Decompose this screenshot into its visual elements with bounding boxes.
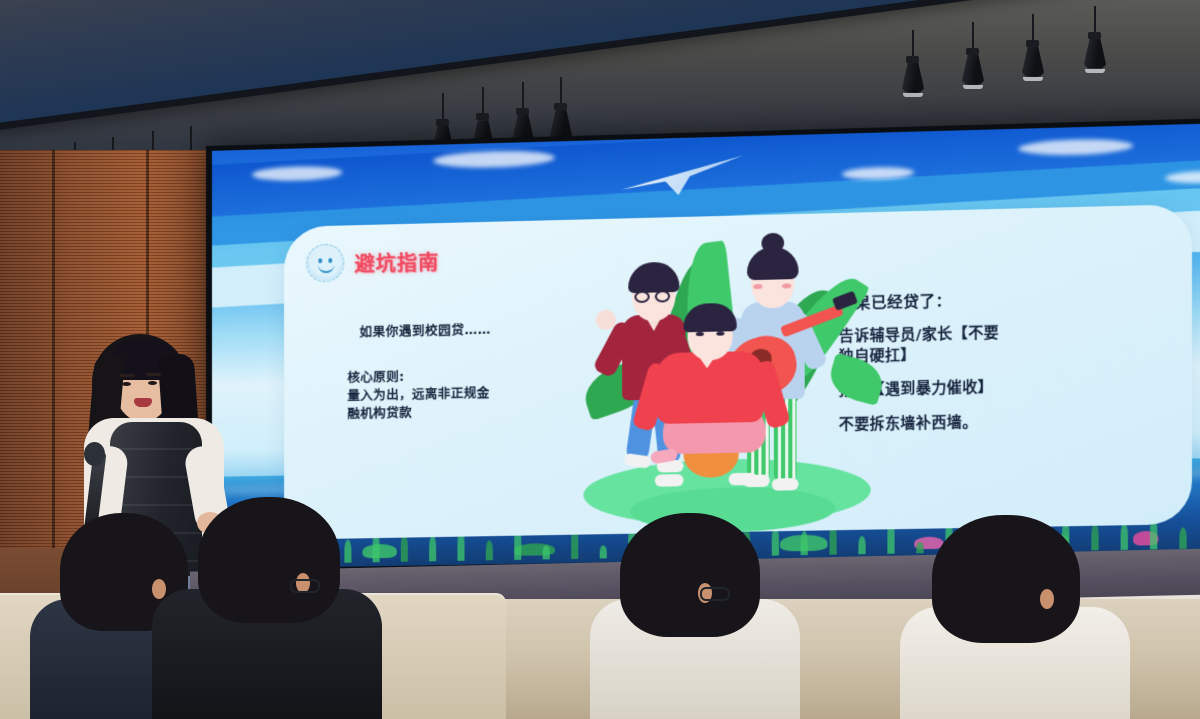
led-screen: 避坑指南 如果你遇到校园贷…… 核心原则: 量入为出，远离非正规金 融机构贷款 … [212,123,1200,569]
led-screen-frame: 避坑指南 如果你遇到校园贷…… 核心原则: 量入为出，远离非正规金 融机构贷款 … [206,118,1200,576]
slide-right-column: 如果已经贷了： 告诉辅导员/家长【不要 独自硬扛】 报警【遇到暴力催收】 不要拆… [839,285,1151,436]
smiley-face-icon [306,244,344,283]
slide-card: 避坑指南 如果你遇到校园贷…… 核心原则: 量入为出，远离非正规金 融机构贷款 … [284,204,1192,540]
spotlight-icon [960,22,986,89]
glasses-icon [700,587,730,601]
seaweed [1179,527,1186,549]
wall-seam [52,150,55,570]
glasses-icon [290,579,320,593]
spotlight-icon [1020,14,1046,81]
seaweed [916,542,923,553]
seaweed [486,540,493,560]
seaweed [858,536,865,554]
slide-badge: 避坑指南 [306,241,439,282]
seaweed [600,545,607,558]
slide-left-column: 如果你遇到校园贷…… 核心原则: 量入为出，远离非正规金 融机构贷款 [347,317,565,423]
seaweed [543,545,550,559]
seaweed [401,534,408,562]
spotlight-icon [548,77,574,144]
right-line: 不要拆东墙补西墙。 [839,410,1151,436]
lecture-hall-photo: 避坑指南 如果你遇到校园贷…… 核心原则: 量入为出，远离非正规金 融机构贷款 … [0,0,1200,719]
coral [363,544,397,559]
seaweed [344,540,351,563]
principle-line: 融机构贷款 [347,400,565,422]
right-line: 告诉辅导员/家长【不要 独自硬扛】 [839,321,1151,368]
slide-principle-block: 核心原则: 量入为出，远离非正规金 融机构贷款 [347,364,565,422]
slide-lead-text: 如果你遇到校园贷…… [359,317,565,341]
seaweed [1121,522,1128,550]
spotlight-icon [1082,6,1108,73]
microphone-head [84,442,105,466]
seaweed [801,531,808,555]
slide-badge-title: 避坑指南 [354,246,439,277]
spotlight-icon [900,30,926,97]
right-line: 报警【遇到暴力催收】 [839,376,1151,403]
presenter-mouth [134,398,152,407]
right-heading: 如果已经贷了： [839,285,1151,314]
seaweed [429,535,436,561]
seaweed [1091,523,1098,551]
three-students-illustration [577,228,885,535]
